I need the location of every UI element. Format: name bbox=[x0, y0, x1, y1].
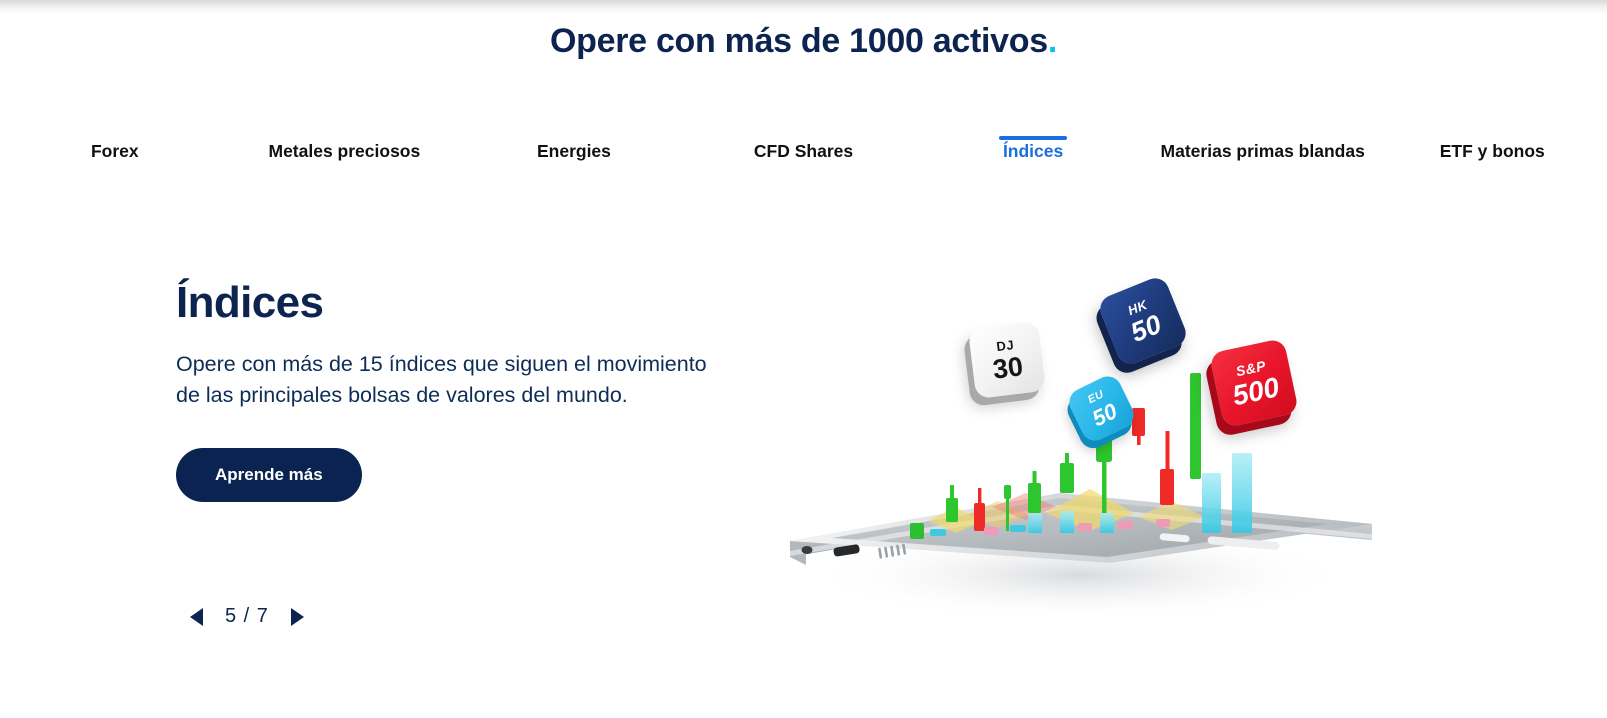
index-tile-number: 30 bbox=[991, 353, 1024, 383]
page-title-text: Opere con más de 1000 activos bbox=[550, 22, 1048, 60]
tab-label: CFD Shares bbox=[754, 141, 853, 162]
triangle-right-icon[interactable] bbox=[291, 608, 304, 626]
tab-label: Metales preciosos bbox=[268, 141, 420, 162]
category-panel: Índices Opere con más de 15 índices que … bbox=[176, 280, 736, 502]
tab-label: Materias primas blandas bbox=[1161, 141, 1365, 162]
tab-etf-y-bonos[interactable]: ETF y bonos bbox=[1377, 100, 1607, 176]
header-shadow-strip bbox=[0, 0, 1607, 14]
panel-title: Índices bbox=[176, 280, 736, 326]
tab-energies[interactable]: Energies bbox=[459, 100, 689, 176]
tab-cfd-shares[interactable]: CFD Shares bbox=[689, 100, 919, 176]
index-tile-symbol: DJ bbox=[996, 338, 1015, 353]
tab-label: Forex bbox=[91, 141, 139, 162]
index-tile-dj30: DJ 30 bbox=[968, 321, 1046, 399]
tab-label: ETF y bonos bbox=[1440, 141, 1545, 162]
tab-active-indicator bbox=[999, 136, 1067, 140]
tab-label: Energies bbox=[537, 141, 611, 162]
page-title-accent-dot: . bbox=[1048, 22, 1057, 60]
page-title: Opere con más de 1000 activos. bbox=[0, 22, 1607, 61]
headphone-jack bbox=[802, 546, 813, 554]
tab-label: Índices bbox=[1003, 141, 1063, 162]
triangle-left-icon[interactable] bbox=[190, 608, 203, 626]
tab-forex[interactable]: Forex bbox=[0, 100, 230, 176]
tab-metales-preciosos[interactable]: Metales preciosos bbox=[230, 100, 460, 176]
indices-illustration bbox=[760, 245, 1420, 665]
tab-materias-primas-blandas[interactable]: Materias primas blandas bbox=[1148, 100, 1378, 176]
asset-category-tabs[interactable]: Forex Metales preciosos Energies CFD Sha… bbox=[0, 100, 1607, 176]
carousel-counter: 5 / 7 bbox=[225, 605, 269, 628]
panel-description: Opere con más de 15 índices que siguen e… bbox=[176, 349, 721, 410]
index-tile-sp500: S&P 500 bbox=[1209, 338, 1299, 428]
index-tile-number: 500 bbox=[1230, 373, 1282, 410]
carousel-pagination: 5 / 7 bbox=[190, 605, 304, 628]
learn-more-button[interactable]: Aprende más bbox=[176, 448, 362, 502]
tab-indices[interactable]: Índices bbox=[918, 100, 1148, 176]
